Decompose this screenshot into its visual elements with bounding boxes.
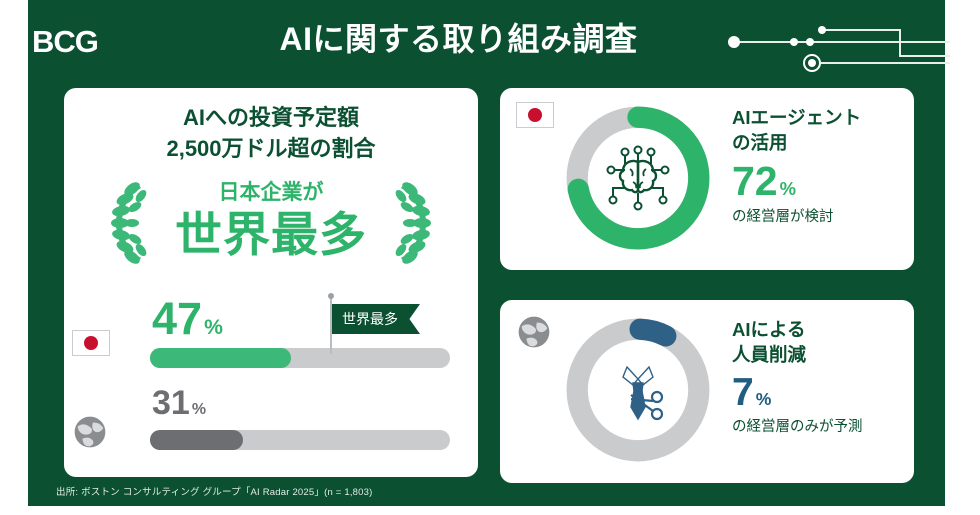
bar-row-japan: 47% 世界最多 bbox=[64, 294, 478, 368]
japan-flag-icon bbox=[516, 102, 554, 128]
bar-track-japan bbox=[150, 348, 450, 368]
value-world: 31% bbox=[152, 386, 206, 420]
circuit-lines-decoration-icon bbox=[690, 0, 950, 90]
ai-agent-heading: AIエージェント の活用 bbox=[732, 106, 908, 155]
ai-agent-text-block: AIエージェント の活用 72% の経営層が検討 bbox=[732, 106, 908, 227]
globe-icon bbox=[72, 414, 110, 440]
workforce-heading-line2: 人員削減 bbox=[732, 343, 908, 368]
percent-sign: % bbox=[756, 389, 772, 409]
infographic-slide: BCG AIに関する取り組み調査 AIへの投資予定額 2,500万ドル超の割合 bbox=[0, 0, 980, 515]
japan-flag-icon bbox=[72, 330, 110, 356]
bar-fill-japan bbox=[150, 348, 291, 368]
ai-agent-value: 72% bbox=[732, 161, 908, 202]
left-card-heading-line1: AIへの投資予定額 bbox=[64, 102, 478, 133]
workforce-text-block: AIによる 人員削減 7% の経営層のみが予測 bbox=[732, 318, 908, 437]
ai-brain-circuit-icon bbox=[603, 144, 673, 214]
flag-pole bbox=[330, 298, 332, 354]
percent-sign: % bbox=[192, 401, 206, 418]
value-japan: 47% bbox=[152, 296, 223, 341]
workforce-heading: AIによる 人員削減 bbox=[732, 318, 908, 367]
source-footnote: 出所: ボストン コンサルティング グループ「AI Radar 2025」(n … bbox=[56, 484, 373, 498]
left-card-heading: AIへの投資予定額 2,500万ドル超の割合 bbox=[64, 102, 478, 164]
bar-row-world: 31% bbox=[64, 378, 478, 452]
left-card-heading-line2: 2,500万ドル超の割合 bbox=[64, 133, 478, 164]
workforce-reduction-card: AIによる 人員削減 7% の経営層のみが予測 bbox=[500, 300, 914, 483]
left-card-subtitle: 日本企業が bbox=[64, 182, 478, 203]
workforce-footer: の経営層のみが予測 bbox=[732, 419, 908, 436]
bar-track-world bbox=[150, 430, 450, 450]
ai-agent-heading-line1: AIエージェント bbox=[732, 106, 908, 131]
percent-sign: % bbox=[204, 316, 223, 339]
ai-agent-footer: の経営層が検討 bbox=[732, 209, 908, 226]
workforce-value: 7% bbox=[732, 373, 908, 412]
ai-agent-heading-line2: の活用 bbox=[732, 131, 908, 156]
ai-agent-card: AIエージェント の活用 72% の経営層が検討 bbox=[500, 88, 914, 270]
globe-icon bbox=[516, 314, 554, 340]
necktie-scissors-icon bbox=[603, 357, 673, 427]
percent-sign: % bbox=[780, 178, 796, 199]
workforce-heading-line1: AIによる bbox=[732, 318, 908, 343]
investment-card: AIへの投資予定額 2,500万ドル超の割合 bbox=[64, 88, 478, 477]
left-card-big-text: 世界最多 bbox=[64, 206, 478, 265]
world-top-banner: 世界最多 bbox=[332, 304, 420, 334]
bar-fill-world bbox=[150, 430, 243, 450]
